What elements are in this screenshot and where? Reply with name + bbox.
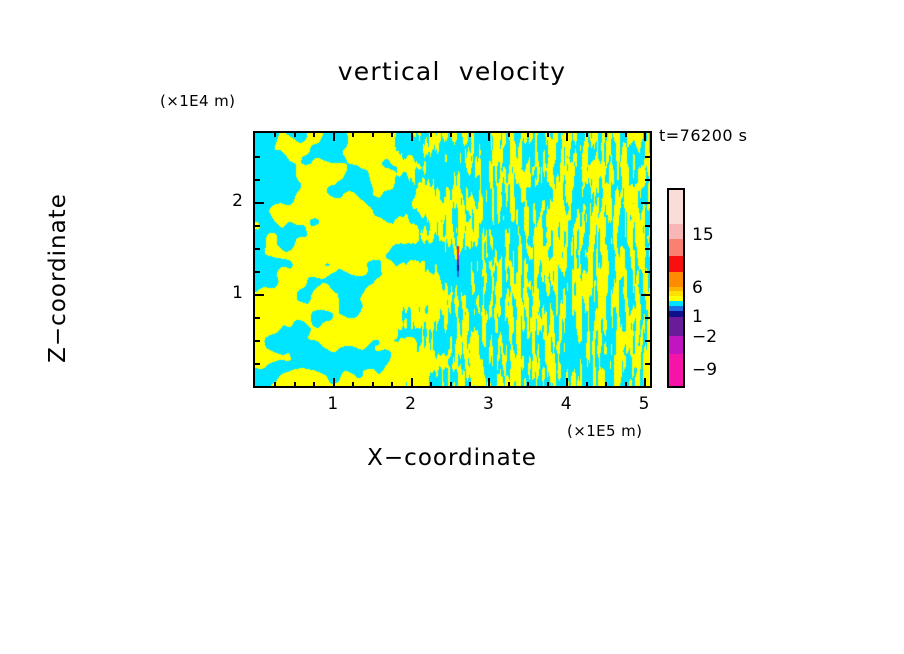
y-minor-tick bbox=[255, 179, 260, 181]
x-tick-label-2: 2 bbox=[391, 394, 431, 414]
y-minor-tick bbox=[255, 156, 260, 158]
colorbar-band-1 bbox=[669, 224, 683, 239]
y-axis-title: Z−coordinate bbox=[45, 128, 71, 428]
x-minor-tick bbox=[605, 382, 607, 386]
y-minor-tick bbox=[255, 248, 260, 250]
x-minor-tick-top bbox=[450, 133, 452, 137]
y-minor-tick-right bbox=[645, 179, 650, 181]
x-minor-tick-top bbox=[625, 133, 627, 137]
colorbar-label-3: −2 bbox=[692, 327, 717, 347]
colorbar-band-4 bbox=[669, 272, 683, 287]
x-tick-2 bbox=[411, 378, 413, 386]
y-minor-tick-right bbox=[645, 248, 650, 250]
timestamp-annotation: t=76200 s bbox=[659, 126, 748, 145]
x-minor-tick bbox=[625, 382, 627, 386]
x-tick-top-4 bbox=[566, 133, 568, 141]
x-minor-tick-top bbox=[352, 133, 354, 137]
x-minor-tick-top bbox=[527, 133, 529, 137]
y-minor-tick-right bbox=[645, 340, 650, 342]
x-minor-tick bbox=[352, 382, 354, 386]
x-minor-tick bbox=[527, 382, 529, 386]
x-minor-tick bbox=[391, 382, 393, 386]
y-minor-tick-right bbox=[645, 271, 650, 273]
x-minor-tick bbox=[450, 382, 452, 386]
colorbar-band-2 bbox=[669, 239, 683, 256]
figure-canvas: vertical velocity (×1E4 m) t=76200 s Z−c… bbox=[0, 0, 904, 654]
y-tick-1 bbox=[255, 294, 264, 296]
x-tick-5 bbox=[644, 378, 646, 386]
x-minor-tick-top bbox=[430, 133, 432, 137]
x-tick-3 bbox=[488, 378, 490, 386]
x-axis-title: X−coordinate bbox=[0, 445, 904, 471]
x-tick-4 bbox=[566, 378, 568, 386]
x-minor-tick-top bbox=[547, 133, 549, 137]
y-minor-tick-right bbox=[645, 363, 650, 365]
x-tick-label-3: 3 bbox=[468, 394, 508, 414]
colorbar-band-0 bbox=[669, 190, 683, 224]
x-tick-top-1 bbox=[333, 133, 335, 141]
y-minor-tick bbox=[255, 317, 260, 319]
colorbar-label-0: 15 bbox=[692, 225, 714, 245]
x-minor-tick-top bbox=[508, 133, 510, 137]
x-minor-tick bbox=[469, 382, 471, 386]
x-minor-tick-top bbox=[605, 133, 607, 137]
x-axis-unit-label: (×1E5 m) bbox=[567, 422, 642, 440]
x-minor-tick bbox=[508, 382, 510, 386]
x-tick-label-4: 4 bbox=[546, 394, 586, 414]
x-minor-tick bbox=[430, 382, 432, 386]
x-tick-top-5 bbox=[644, 133, 646, 141]
y-minor-tick-right bbox=[645, 225, 650, 227]
x-minor-tick-top bbox=[469, 133, 471, 137]
x-tick-top-3 bbox=[488, 133, 490, 141]
y-tick-label-1: 1 bbox=[215, 283, 243, 303]
x-minor-tick bbox=[313, 382, 315, 386]
x-minor-tick-top bbox=[274, 133, 276, 137]
x-minor-tick bbox=[547, 382, 549, 386]
x-minor-tick-top bbox=[586, 133, 588, 137]
y-tick-label-2: 2 bbox=[215, 191, 243, 211]
x-minor-tick bbox=[274, 382, 276, 386]
colorbar-band-3 bbox=[669, 256, 683, 273]
plot-area[interactable] bbox=[253, 131, 652, 388]
y-tick-right-1 bbox=[641, 294, 650, 296]
y-minor-tick-right bbox=[645, 317, 650, 319]
colorbar[interactable] bbox=[667, 188, 685, 388]
page-title: vertical velocity bbox=[0, 57, 904, 86]
x-tick-1 bbox=[333, 378, 335, 386]
y-minor-tick bbox=[255, 225, 260, 227]
y-minor-tick bbox=[255, 340, 260, 342]
y-tick-right-2 bbox=[641, 202, 650, 204]
colorbar-band-12 bbox=[669, 336, 683, 355]
colorbar-band-13 bbox=[669, 354, 683, 386]
x-minor-tick-top bbox=[294, 133, 296, 137]
x-minor-tick bbox=[586, 382, 588, 386]
y-minor-tick bbox=[255, 363, 260, 365]
x-tick-label-1: 1 bbox=[313, 394, 353, 414]
y-minor-tick-right bbox=[645, 156, 650, 158]
x-minor-tick bbox=[372, 382, 374, 386]
y-axis-unit-label: (×1E4 m) bbox=[160, 92, 235, 110]
y-tick-2 bbox=[255, 202, 264, 204]
x-minor-tick bbox=[294, 382, 296, 386]
y-minor-tick bbox=[255, 271, 260, 273]
velocity-field-heatmap bbox=[255, 133, 650, 386]
x-minor-tick-top bbox=[372, 133, 374, 137]
x-tick-top-2 bbox=[411, 133, 413, 141]
colorbar-band-11 bbox=[669, 317, 683, 336]
x-tick-label-5: 5 bbox=[624, 394, 664, 414]
colorbar-label-2: 1 bbox=[692, 307, 703, 327]
x-minor-tick-top bbox=[391, 133, 393, 137]
colorbar-label-1: 6 bbox=[692, 278, 703, 298]
colorbar-label-4: −9 bbox=[692, 360, 717, 380]
x-minor-tick-top bbox=[313, 133, 315, 137]
